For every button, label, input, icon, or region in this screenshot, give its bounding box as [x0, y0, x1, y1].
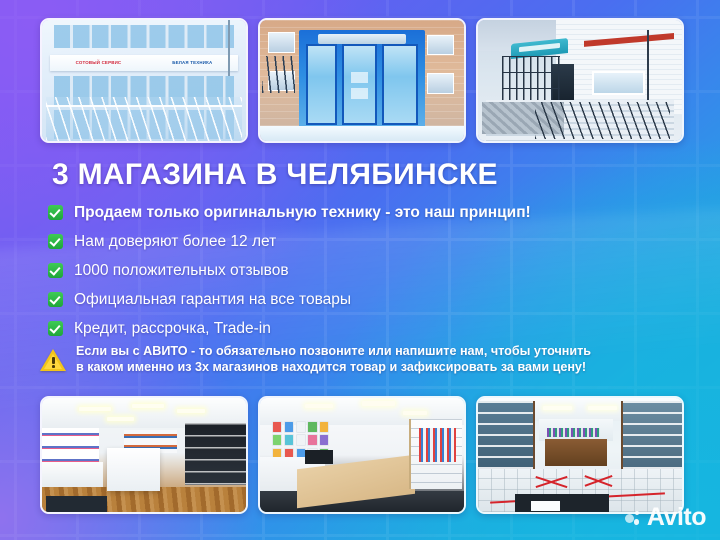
advertisement-card: СОТОВЫЙ СЕРВИС БЕЛАЯ ТЕХНИКА	[0, 0, 720, 540]
list-item: Продаем только оригинальную технику - эт…	[48, 198, 531, 227]
green-check-icon	[48, 205, 63, 220]
warning-text: Если вы с АВИТО - то обязательно позвони…	[76, 344, 591, 375]
photo-row-bottom	[40, 396, 684, 514]
warning-line-1: Если вы с АВИТО - то обязательно позвони…	[76, 344, 591, 360]
list-item: Нам доверяют более 12 лет	[48, 227, 531, 256]
warning-triangle-icon	[40, 348, 67, 372]
warning-banner: Если вы с АВИТО - то обязательно позвони…	[40, 344, 684, 375]
storefront-photo-2[interactable]	[258, 18, 466, 143]
list-item: Официальная гарантия на все товары	[48, 285, 531, 314]
green-check-icon	[48, 263, 63, 278]
avito-dots-icon	[625, 508, 644, 527]
green-check-icon	[48, 321, 63, 336]
benefit-text: Кредит, рассрочка, Trade-in	[74, 320, 271, 338]
interior-photo-1[interactable]	[40, 396, 248, 514]
sign-text-left: СОТОВЫЙ СЕРВИС	[76, 60, 122, 65]
list-item: 1000 положительных отзывов	[48, 256, 531, 285]
avito-watermark: Avito	[625, 505, 706, 530]
storefront-photo-3[interactable]	[476, 18, 684, 143]
green-check-icon	[48, 234, 63, 249]
avito-wordmark: Avito	[647, 505, 706, 530]
interior-photo-2[interactable]	[258, 396, 466, 514]
sign-text-right: БЕЛАЯ ТЕХНИКА	[172, 60, 212, 65]
benefit-text: 1000 положительных отзывов	[74, 262, 289, 280]
benefits-list: Продаем только оригинальную технику - эт…	[48, 198, 531, 343]
benefit-text: Продаем только оригинальную технику - эт…	[74, 204, 531, 222]
benefit-text: Официальная гарантия на все товары	[74, 291, 351, 309]
storefront-photo-1[interactable]: СОТОВЫЙ СЕРВИС БЕЛАЯ ТЕХНИКА	[40, 18, 248, 143]
headline: 3 МАГАЗИНА В ЧЕЛЯБИНСКЕ	[52, 158, 498, 192]
benefit-text: Нам доверяют более 12 лет	[74, 233, 276, 251]
interior-photo-3[interactable]	[476, 396, 684, 514]
photo-row-top: СОТОВЫЙ СЕРВИС БЕЛАЯ ТЕХНИКА	[40, 18, 684, 143]
list-item: Кредит, рассрочка, Trade-in	[48, 314, 531, 343]
green-check-icon	[48, 292, 63, 307]
warning-line-2: в каком именно из 3х магазинов находится…	[76, 360, 591, 376]
